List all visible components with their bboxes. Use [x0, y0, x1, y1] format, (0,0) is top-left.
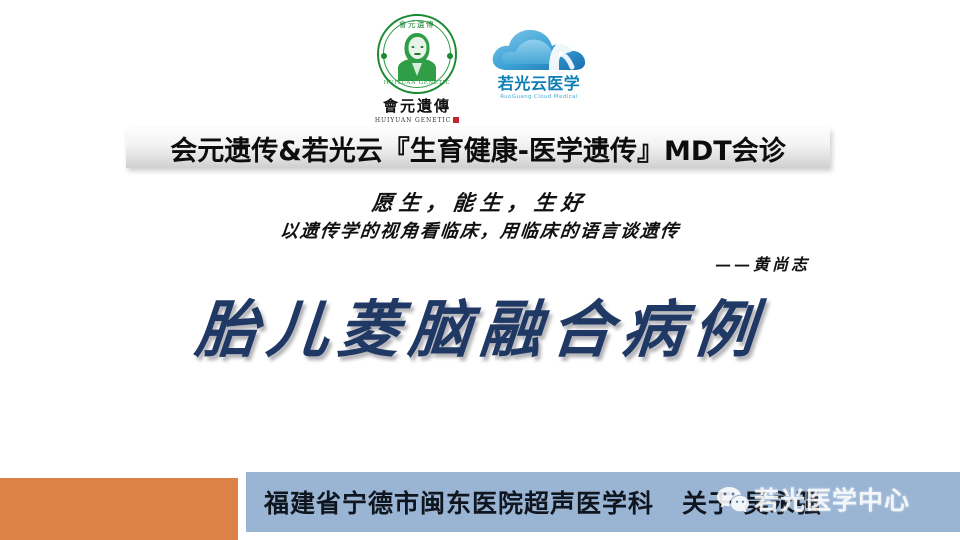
- seal-portrait-icon: [397, 33, 437, 81]
- huiyuan-seal-icon: 會元遺傳 HUIYUAN GENETIC: [377, 14, 457, 94]
- cloud-r-svg: [489, 24, 589, 74]
- title-banner: 会元遗传&若光云『生育健康-医学遗传』MDT会诊: [126, 128, 830, 168]
- footer-affiliation: 福建省宁德市闽东医院超声医学科: [264, 484, 654, 520]
- motto-line-1: 愿生，能生，生好: [0, 190, 960, 215]
- portrait-eye-left: [411, 46, 414, 48]
- motto-line-2: 以遗传学的视角看临床，用临床的语言谈遗传: [0, 221, 960, 243]
- page-title-text: 胎儿菱脑融合病例: [193, 296, 767, 364]
- portrait-collar: [412, 63, 422, 76]
- calligraphy-block: 愿生，能生，生好 以遗传学的视角看临床，用临床的语言谈遗传 ——黄尚志: [0, 190, 960, 275]
- ruoguang-cloud-medical-logo: 若光云医学 RuoGuang Cloud Medical: [483, 24, 595, 114]
- ruoguang-logo-cn-name: 若光云医学: [483, 75, 595, 93]
- cloud-r-icon: [489, 24, 589, 74]
- seal-top-text: 會元遺傳: [379, 21, 455, 29]
- huiyuan-red-mark-icon: [453, 117, 459, 123]
- footer-presenter: 关于 吴永强: [682, 484, 822, 520]
- motto-signature: ——黄尚志: [0, 251, 960, 275]
- portrait-eye-right: [420, 46, 423, 48]
- seal-dot-right-icon: [447, 53, 453, 59]
- presentation-slide: 會元遺傳 HUIYUAN GENETIC: [0, 0, 960, 540]
- huiyuan-logo-en-name: HUIYUAN GENETIC: [358, 117, 476, 124]
- portrait-mouth: [414, 53, 420, 55]
- huiyuan-logo-cn-name: 會元遺傳: [358, 98, 476, 115]
- seal-dot-left-icon: [381, 53, 387, 59]
- footer-orange-band: [0, 478, 238, 540]
- portrait-face: [408, 37, 426, 59]
- huiyuan-genetic-logo: 會元遺傳 HUIYUAN GENETIC: [358, 14, 476, 126]
- ruoguang-logo-en-name: RuoGuang Cloud Medical: [483, 94, 595, 100]
- footer-blue-band: 福建省宁德市闽东医院超声医学科 关于 吴永强: [246, 472, 960, 532]
- title-banner-text: 会元遗传&若光云『生育健康-医学遗传』MDT会诊: [170, 129, 785, 168]
- seal-bottom-text: HUIYUAN GENETIC: [379, 81, 455, 87]
- page-title: 胎儿菱脑融合病例: [0, 296, 960, 364]
- portrait-head: [405, 33, 430, 63]
- huiyuan-en-text: HUIYUAN GENETIC: [375, 117, 451, 124]
- logo-row: 會元遺傳 HUIYUAN GENETIC: [0, 6, 960, 126]
